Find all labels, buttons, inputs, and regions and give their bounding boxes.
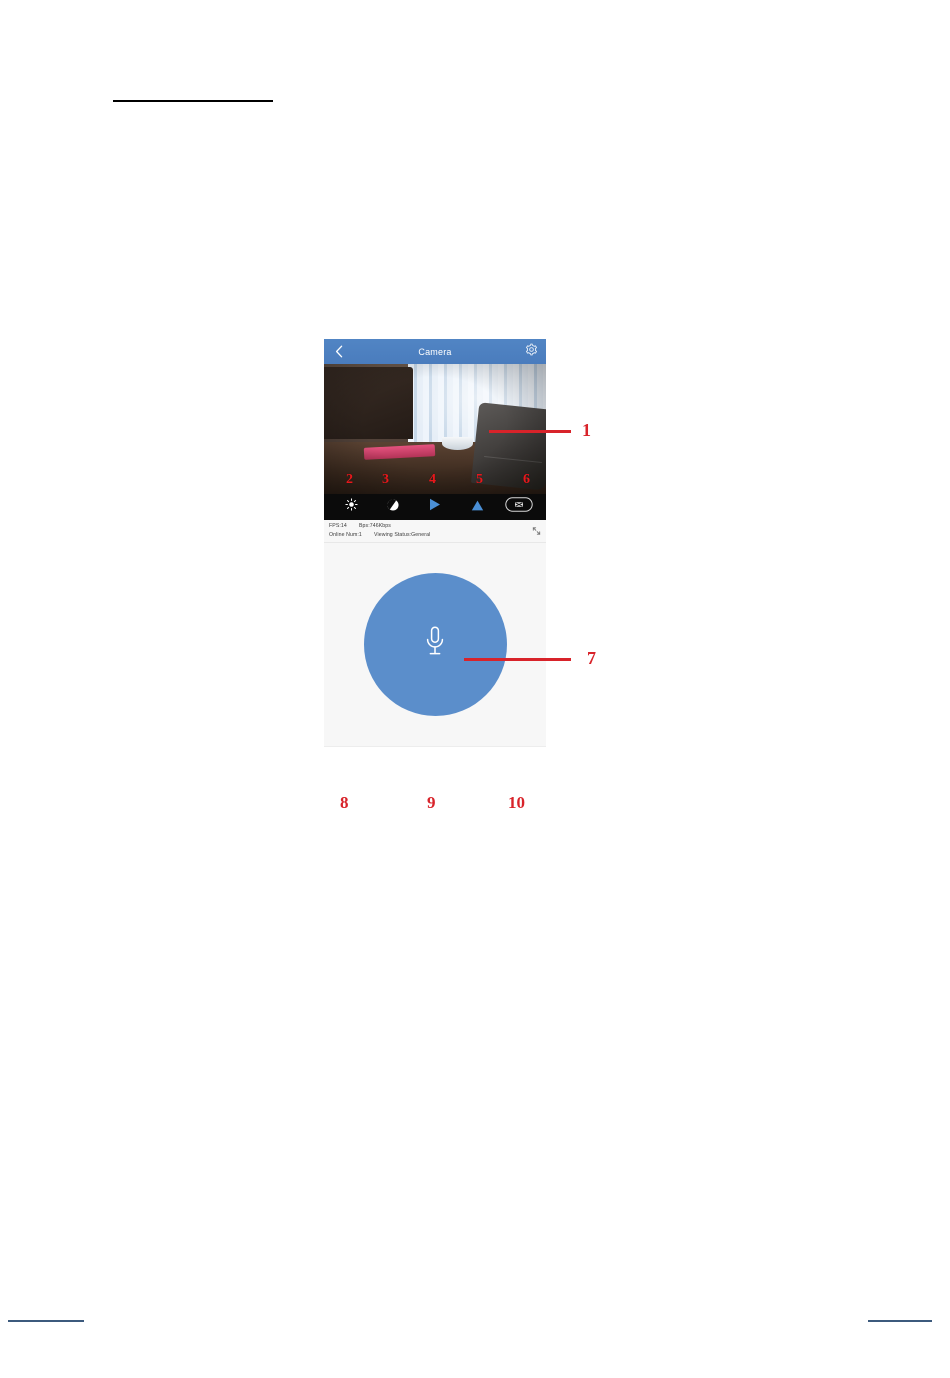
stats-line-1: FPS:14 Bps:746Kbps [329, 522, 541, 531]
phone-screenshot: Camera 2 3 4 5 6 [324, 339, 546, 753]
play-button[interactable] [421, 498, 449, 516]
footer-rule-right [868, 1320, 932, 1322]
push-to-talk-button[interactable] [364, 573, 507, 716]
play-triangle-icon [429, 498, 441, 516]
video-control-toolbar [324, 494, 546, 520]
video-callout-number-3: 3 [382, 472, 389, 488]
viewing-status-value: Viewing Status:General [374, 532, 430, 538]
footer-rule-left [8, 1320, 84, 1322]
up-triangle-icon [471, 498, 484, 516]
resolution-button[interactable] [505, 497, 533, 517]
contrast-button[interactable] [379, 498, 407, 517]
callout-line-1 [489, 430, 571, 433]
callout-number-7: 7 [587, 648, 596, 669]
gear-icon [525, 343, 538, 361]
video-callout-number-6: 6 [523, 472, 530, 488]
stats-line-2: Online Num:1 Viewing Status:General [329, 531, 541, 540]
contrast-circle-icon [386, 498, 400, 517]
page-title: Camera [418, 347, 451, 357]
video-callout-number-4: 4 [429, 472, 436, 488]
callout-number-9: 9 [427, 793, 436, 813]
bps-value: Bps:746Kbps [359, 523, 391, 529]
online-num-value: Online Num:1 [329, 532, 362, 538]
bottom-action-bar [324, 746, 546, 753]
callout-number-8: 8 [340, 793, 349, 813]
callout-line-7 [464, 658, 571, 661]
stream-stats-bar: FPS:14 Bps:746Kbps Online Num:1 Viewing … [324, 520, 546, 543]
chevron-left-icon [335, 345, 343, 358]
callout-number-10: 10 [508, 793, 525, 813]
app-header-bar: Camera [324, 339, 546, 364]
back-button[interactable] [330, 339, 348, 364]
heading-redaction-bar [113, 100, 273, 102]
brightness-sun-icon [345, 498, 358, 516]
fullscreen-expand-icon[interactable] [532, 522, 541, 540]
settings-button[interactable] [522, 339, 540, 364]
fps-value: FPS:14 [329, 523, 347, 529]
video-callout-number-2: 2 [346, 472, 353, 488]
microphone-icon [424, 625, 446, 664]
brightness-button[interactable] [337, 498, 365, 516]
flip-button[interactable] [463, 498, 491, 516]
live-video-view[interactable]: 2 3 4 5 6 [324, 364, 546, 494]
callout-number-1: 1 [582, 420, 591, 441]
video-callout-number-5: 5 [476, 472, 483, 488]
resolution-pill-icon [505, 497, 533, 517]
talk-panel [324, 543, 546, 746]
